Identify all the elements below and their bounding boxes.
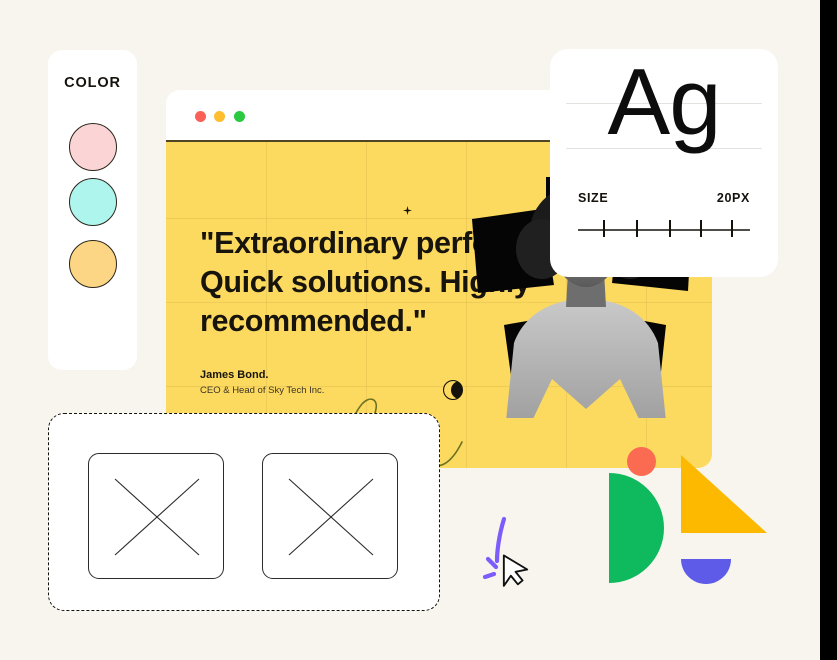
image-placeholder-2[interactable] xyxy=(262,453,398,579)
size-label: SIZE xyxy=(578,191,608,205)
yellow-triangle-shape xyxy=(681,455,767,533)
swatch-amber[interactable] xyxy=(69,240,117,288)
red-circle-shape xyxy=(627,447,656,476)
placeholder-panel xyxy=(48,413,440,611)
close-dot[interactable] xyxy=(195,111,206,122)
size-value: 20PX xyxy=(717,191,750,205)
cross-placeholder-icon xyxy=(89,454,224,579)
color-panel: COLOR xyxy=(48,50,137,370)
swatch-cyan[interactable] xyxy=(69,178,117,226)
cross-placeholder-icon xyxy=(263,454,398,579)
maximize-dot[interactable] xyxy=(234,111,245,122)
testimonial-author-role: CEO & Head of Sky Tech Inc. xyxy=(200,385,324,396)
right-edge-band xyxy=(820,0,837,660)
green-half-circle-shape xyxy=(609,473,664,583)
color-panel-title: COLOR xyxy=(48,75,137,91)
size-ruler[interactable] xyxy=(578,217,750,237)
sparkle-icon xyxy=(403,206,412,215)
blue-half-disc-shape xyxy=(681,559,731,584)
design-system-mockup: COLOR "Extraordinary performance. Quick … xyxy=(0,0,837,660)
image-placeholder-1[interactable] xyxy=(88,453,224,579)
swatch-pink[interactable] xyxy=(69,123,117,171)
type-specimen: Ag xyxy=(550,55,778,149)
minimize-dot[interactable] xyxy=(214,111,225,122)
arrow-cursor-icon xyxy=(482,513,542,593)
testimonial-author-name: James Bond. xyxy=(200,369,268,381)
typography-card: Ag SIZE 20PX xyxy=(550,49,778,277)
